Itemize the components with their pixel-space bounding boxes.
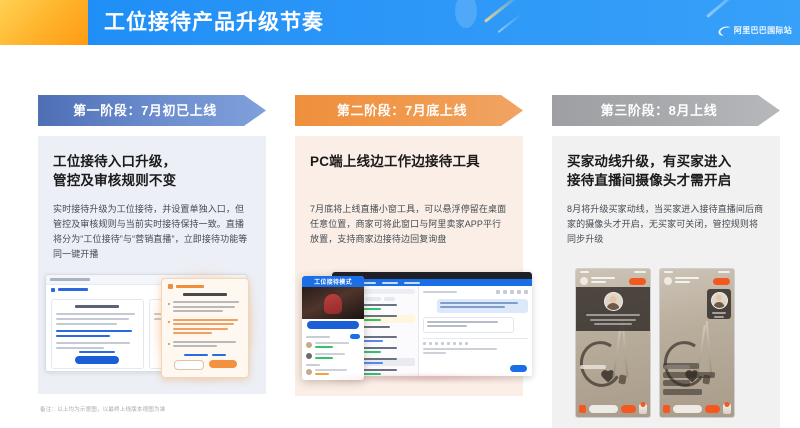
floating-widget-visitor-panel: [302, 331, 364, 380]
buyer-avatar: [604, 292, 623, 311]
visitor-panel-subheader: [306, 364, 360, 366]
livestream-bottom-bar: [660, 404, 734, 414]
enter-livestream-overlay: [576, 287, 650, 331]
notice-confirm-button[interactable]: [209, 360, 237, 368]
brand-name: 阿里巴巴国际站: [734, 26, 792, 36]
notice-modal-links[interactable]: [168, 354, 242, 356]
floating-live-widget: 工位接待模式: [302, 276, 364, 380]
notice-modal: [161, 278, 249, 378]
bottom-icon-button[interactable]: [579, 405, 586, 413]
stage-mockup-1: [53, 272, 251, 382]
stage-column-2: 第二阶段：7月底上线 PC端上线边工作边接待工具 7月底将上线直播小窗工具，可以…: [295, 95, 523, 396]
bottom-icon-button[interactable]: [663, 405, 670, 413]
comment-item: [663, 363, 699, 369]
stage-mockup-2: 工位接待模式: [310, 272, 508, 384]
header-accent-block: [0, 0, 88, 45]
chat-toolbar-icons[interactable]: [423, 342, 528, 345]
notice-cancel-button[interactable]: [174, 360, 204, 370]
stage-heading-3: 买家动线升级，有买家进入 接待直播间摄像头才需开启: [567, 152, 765, 190]
brand-logo: 阿里巴巴国际站: [718, 26, 792, 36]
header-decoration-stripe-gold: [484, 0, 522, 23]
gift-icon[interactable]: [639, 404, 647, 414]
chat-bubble-incoming: [437, 299, 528, 313]
stages-container: 第一阶段：7月初已上线 工位接待入口升级， 管控及审核规则不变 实时接待升级为工…: [0, 45, 800, 400]
gift-icon[interactable]: [723, 404, 731, 414]
livestream-comment-list: [663, 363, 719, 397]
header-decoration-circle: [455, 0, 477, 28]
notice-bullet: [168, 301, 242, 315]
notice-modal-header: [168, 284, 242, 289]
mockup-shadow: [326, 376, 534, 380]
notice-bullet: [168, 341, 242, 350]
stage-banner-label-3: 第三阶段：8月上线: [601, 102, 718, 119]
stage-banner-1: 第一阶段：7月初已上线: [38, 95, 266, 126]
comment-item: [663, 380, 690, 386]
product-tag[interactable]: [580, 365, 606, 369]
stage-heading-1: 工位接待入口升级， 管控及审核规则不变: [53, 152, 251, 190]
chat-bubble-outgoing: [423, 317, 514, 333]
stage-heading-2: PC端上线边工作边接待工具: [310, 152, 508, 190]
visitor-panel-header: [306, 334, 360, 339]
host-body: [324, 294, 342, 314]
notice-modal-title: [183, 293, 227, 296]
follow-button[interactable]: [629, 278, 646, 285]
camera-toggle[interactable]: [350, 334, 360, 339]
visitor-item[interactable]: [306, 342, 360, 350]
livestream-host-bar: [660, 275, 734, 287]
stage-banner-label-1: 第一阶段：7月初已上线: [73, 102, 217, 119]
comment-input[interactable]: [673, 405, 702, 413]
necklace-chain: [612, 325, 621, 379]
stage-banner-3: 第三阶段：8月上线: [552, 95, 780, 126]
stage-mockup-3: [567, 268, 765, 416]
chat-input-bar: [423, 338, 528, 372]
stage-banner-label-2: 第二阶段：7月底上线: [337, 102, 467, 119]
necklace-heart-pendant: [602, 371, 613, 382]
comment-item: [663, 372, 715, 378]
slide-root: 工位接待产品升级节奏 阿里巴巴国际站 第一阶段：7月初已上线 工位接待入口升级，…: [0, 0, 800, 424]
chat-message-input[interactable]: [423, 348, 528, 354]
page-title: 工位接待产品升级节奏: [104, 9, 324, 36]
stage-panel-2: PC端上线边工作边接待工具 7月底将上线直播小窗工具，可以悬浮停留在桌面任意位置…: [295, 136, 523, 396]
host-avatar: [664, 277, 672, 285]
visitor-item[interactable]: [306, 353, 360, 361]
alibaba-logo-icon: [718, 26, 731, 36]
floating-widget-video: [302, 287, 364, 319]
workbench-card-button[interactable]: [75, 356, 119, 364]
slide-header: 工位接待产品升级节奏 阿里巴巴国际站: [0, 0, 800, 45]
chat-panel: [419, 286, 532, 376]
necklace-cord: [576, 337, 627, 391]
floating-widget-title: 工位接待模式: [302, 276, 364, 287]
chat-action-icons[interactable]: [496, 290, 528, 294]
phone-screen-before: [575, 268, 651, 418]
stage-body-3: 8月将升级买家动线，当买家进入接待直播间后商家的摄像头才开启，无买家可关闭，管控…: [567, 202, 765, 262]
notice-icon: [168, 284, 173, 289]
host-avatar-pip: [711, 292, 728, 309]
host-camera-pip: [707, 289, 731, 319]
notice-modal-actions: [168, 360, 242, 370]
cta-button[interactable]: [621, 405, 636, 413]
chat-send-button[interactable]: [510, 365, 527, 372]
header-decoration-stripe-right: [706, 0, 754, 18]
cta-button[interactable]: [705, 405, 720, 413]
stage-banner-2: 第二阶段：7月底上线: [295, 95, 523, 126]
stage-panel-3: 买家动线升级，有买家进入 接待直播间摄像头才需开启 8月将升级买家动线，当买家进…: [552, 136, 780, 428]
floating-widget-action-button[interactable]: [307, 321, 359, 329]
workbench-card[interactable]: [51, 299, 144, 369]
notice-bullet-highlight: [168, 319, 242, 337]
stage-panel-1: 工位接待入口升级， 管控及审核规则不变 实时接待升级为工位接待，并设置单独入口，…: [38, 136, 266, 394]
phone-screen-after: [659, 268, 735, 418]
header-decoration-stripe-white: [498, 13, 523, 33]
necklace-pendant: [618, 374, 626, 384]
tab-marker-icon: [51, 288, 55, 292]
stage-column-1: 第一阶段：7月初已上线 工位接待入口升级， 管控及审核规则不变 实时接待升级为工…: [38, 95, 266, 394]
footnote: 备注：以上均为示意图，以最终上线版本视图为准: [40, 406, 165, 415]
comment-item: [663, 389, 702, 395]
workbench-card-link[interactable]: [79, 351, 115, 353]
livestream-host-bar: [576, 275, 650, 287]
host-avatar: [580, 277, 588, 285]
chat-panel-header: [423, 290, 528, 294]
stage-body-2: 7月底将上线直播小窗工具，可以悬浮停留在桌面任意位置，商家可将此窗口与阿里卖家A…: [310, 202, 508, 262]
follow-button[interactable]: [713, 278, 730, 285]
livestream-bottom-bar: [576, 404, 650, 414]
comment-input[interactable]: [589, 405, 618, 413]
stage-body-1: 实时接待升级为工位接待，并设置单独入口，但管控及审核规则与当前实时接待保持一致。…: [53, 202, 251, 262]
stage-column-3: 第三阶段：8月上线 买家动线升级，有买家进入 接待直播间摄像头才需开启 8月将升…: [552, 95, 780, 428]
